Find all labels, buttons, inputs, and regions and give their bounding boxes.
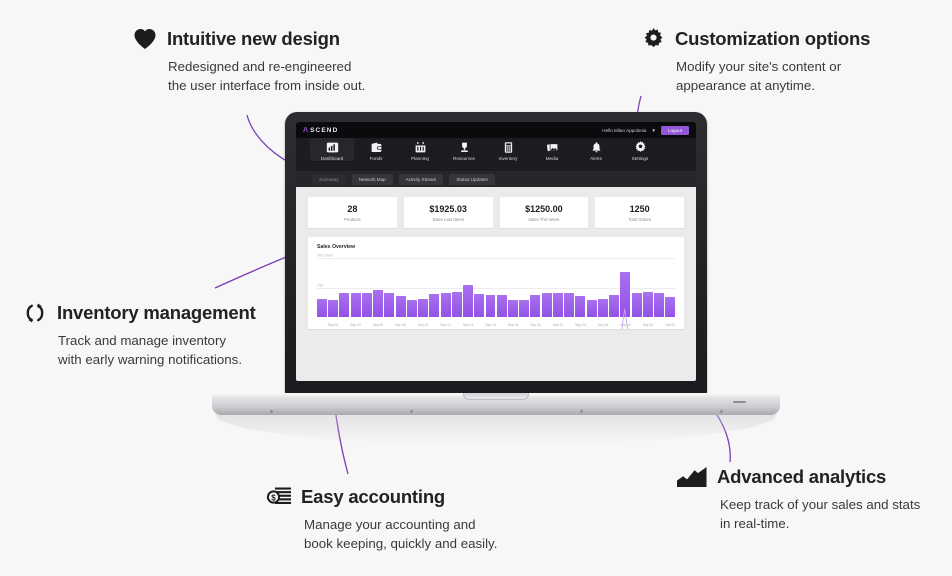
chart-x-tick-label: Sep 30 [643,323,653,327]
chart-x-tick-label: Sep 02 [328,323,338,327]
logout-button[interactable]: Logout [661,126,689,135]
callout-description: Redesigned and re-engineered the user in… [168,57,365,96]
photos-icon [546,141,559,154]
callout-line: Modify your site's content or [676,57,870,76]
area-chart-icon [676,464,708,490]
chart-x-tick-label: Sep 22 [553,323,563,327]
laptop-trackpad-notch [463,393,529,400]
callout-line: the user interface from inside out. [168,76,365,95]
callout-line: Keep track of your sales and stats [720,495,920,514]
nav-item-resources[interactable]: Resources [442,138,486,161]
laptop-lid: ΛSCEND Hello Milan Appolonia ▼ Logout Da… [285,112,707,395]
svg-text:$: $ [271,493,276,502]
stat-value: $1250.00 [502,204,587,214]
stat-card-products: 28 Products [308,197,397,228]
nav-item-inventory[interactable]: Inventory [486,138,530,161]
stat-card-total-orders: 1250 Total Orders [595,197,684,228]
laptop-base-slot [733,401,746,403]
app-topbar: ΛSCEND Hello Milan Appolonia ▼ Logout [296,122,696,138]
chart-x-tick-label [610,323,619,327]
chart-x-tick-label: Sep 04 [350,323,360,327]
nav-item-dashboard[interactable]: Dashboard [310,138,354,161]
stat-label: Sales This Week [502,217,587,222]
callout-description: Manage your accounting and book keeping,… [304,515,497,554]
app-tab-bar: Summary Network Map Activity Stream Stat… [296,171,696,187]
tab-activity-stream[interactable]: Activity Stream [399,174,444,185]
chart-x-tick-label [385,323,394,327]
chart-x-tick-label [542,323,551,327]
stat-label: Sales Last Week [406,217,491,222]
app-nav: Dashboard Funds Planning Resources [296,138,696,171]
nav-label: Alerts [590,156,602,161]
chart-x-tick-label [317,323,326,327]
chart-x-tick-label [655,323,664,327]
laptop-base [212,393,780,415]
laptop-screen: ΛSCEND Hello Milan Appolonia ▼ Logout Da… [296,122,696,381]
callout-line: book keeping, quickly and easily. [304,534,497,553]
chart-x-tick-label: Sep 10 [418,323,428,327]
chart-x-tick-label [452,323,461,327]
panel-title: Sales Overview [317,244,675,250]
chart-x-tick-label: Oct 02 [665,323,675,327]
chart-x-tick-label [520,323,529,327]
callout-intuitive-new-design: Intuitive new design Redesigned and re-e… [132,26,365,96]
nav-item-settings[interactable]: Settings [618,138,662,161]
chart-x-tick-label [475,323,484,327]
logo-text: SCEND [310,127,338,134]
chart-x-tick-label [340,323,349,327]
callout-line: Redesigned and re-engineered [168,57,365,76]
sales-overview-panel: Sales Overview 250500 UnitsSep 02Sep 04S… [308,237,684,329]
nav-label: Planning [411,156,429,161]
bar-chart-icon [326,141,339,154]
gear-icon [640,26,666,52]
callout-line: appearance at anytime. [676,76,870,95]
ascend-logo: ΛSCEND [303,126,338,134]
nav-label: Resources [453,156,475,161]
heart-icon [132,26,158,52]
stat-card-sales-last-week: $1925.03 Sales Last Week [404,197,493,228]
callout-header: Intuitive new design [132,26,365,52]
chart-x-tick-label: Sep 06 [373,323,383,327]
nav-label: Inventory [499,156,518,161]
nav-item-planning[interactable]: Planning [398,138,442,161]
chart-x-tick-label: Sep 28 [620,323,630,327]
gear-icon [634,141,647,154]
calendar-icon [414,141,427,154]
laptop-foot [270,410,273,413]
chart-x-axis: Sep 02Sep 04Sep 06Sep 08Sep 10Sep 12Sep … [317,323,675,327]
stat-label: Total Orders [597,217,682,222]
stat-value: 1250 [597,204,682,214]
chart-x-tick-label: Sep 26 [598,323,608,327]
callout-easy-accounting: $ Easy accounting Manage your accounting… [266,484,497,554]
wallet-icon [370,141,383,154]
trophy-icon [458,141,471,154]
chart-x-tick-label [407,323,416,327]
nav-item-funds[interactable]: Funds [354,138,398,161]
app-content: 28 Products $1925.03 Sales Last Week $12… [296,187,696,329]
topbar-right: Hello Milan Appolonia ▼ Logout [602,126,689,135]
nav-label: Media [546,156,559,161]
nav-label: Settings [632,156,649,161]
callout-customization-options: Customization options Modify your site's… [640,26,870,96]
nav-item-alerts[interactable]: Alerts [574,138,618,161]
laptop-foot [410,410,413,413]
nav-label: Funds [370,156,383,161]
callout-title: Advanced analytics [717,466,886,488]
laptop-foot [580,410,583,413]
callout-advanced-analytics: Advanced analytics Keep track of your sa… [676,464,920,534]
stat-value: $1925.03 [406,204,491,214]
stat-value: 28 [310,204,395,214]
chart-x-tick-label [565,323,574,327]
user-greeting: Hello Milan Appolonia [602,128,646,133]
callout-title: Intuitive new design [167,28,340,50]
callout-title: Easy accounting [301,486,445,508]
laptop-foot [720,410,723,413]
chart-trend-line [317,258,675,329]
chart-x-tick-label: Sep 24 [575,323,585,327]
callout-header: $ Easy accounting [266,484,497,510]
tab-network-map[interactable]: Network Map [352,174,393,185]
chart-x-tick-label: Sep 08 [395,323,405,327]
tab-summary[interactable]: Summary [312,174,346,185]
infographic-stage: Intuitive new design Redesigned and re-e… [0,0,952,576]
money-stack-icon: $ [266,484,292,510]
callout-description: Modify your site's content or appearance… [676,57,870,96]
callout-title: Customization options [675,28,870,50]
tab-status-updates[interactable]: Status Updates [449,174,494,185]
bell-icon [590,141,603,154]
nav-label: Dashboard [321,156,343,161]
chart-x-tick-label [430,323,439,327]
chart-x-tick-label: Sep 16 [485,323,495,327]
stat-card-row: 28 Products $1925.03 Sales Last Week $12… [308,197,684,228]
chart-x-tick-label [362,323,371,327]
chart-x-tick-label: Sep 12 [440,323,450,327]
chart-x-tick-label [632,323,641,327]
chart-x-tick-label: Sep 18 [508,323,518,327]
laptop-mockup: ΛSCEND Hello Milan Appolonia ▼ Logout Da… [212,112,780,432]
callout-line: in real-time. [720,514,920,533]
stat-label: Products [310,217,395,222]
callout-line: Manage your accounting and [304,515,497,534]
logo-chevron-icon: Λ [303,126,309,134]
chevron-down-icon[interactable]: ▼ [651,128,655,133]
chart-x-tick-label: Sep 20 [530,323,540,327]
sync-arrows-icon [22,300,48,326]
callout-header: Customization options [640,26,870,52]
chart-x-tick-label [497,323,506,327]
callout-description: Keep track of your sales and stats in re… [720,495,920,534]
sales-overview-chart: 250500 UnitsSep 02Sep 04Sep 06Sep 08Sep … [317,254,675,328]
callout-header: Advanced analytics [676,464,920,490]
laptop-reflection [216,415,776,445]
nav-item-media[interactable]: Media [530,138,574,161]
chart-x-tick-label: Sep 14 [463,323,473,327]
chart-x-tick-label [587,323,596,327]
calculator-icon [502,141,515,154]
chart-y-tick-label: 500 Units [317,254,333,258]
stat-card-sales-this-week: $1250.00 Sales This Week [500,197,589,228]
